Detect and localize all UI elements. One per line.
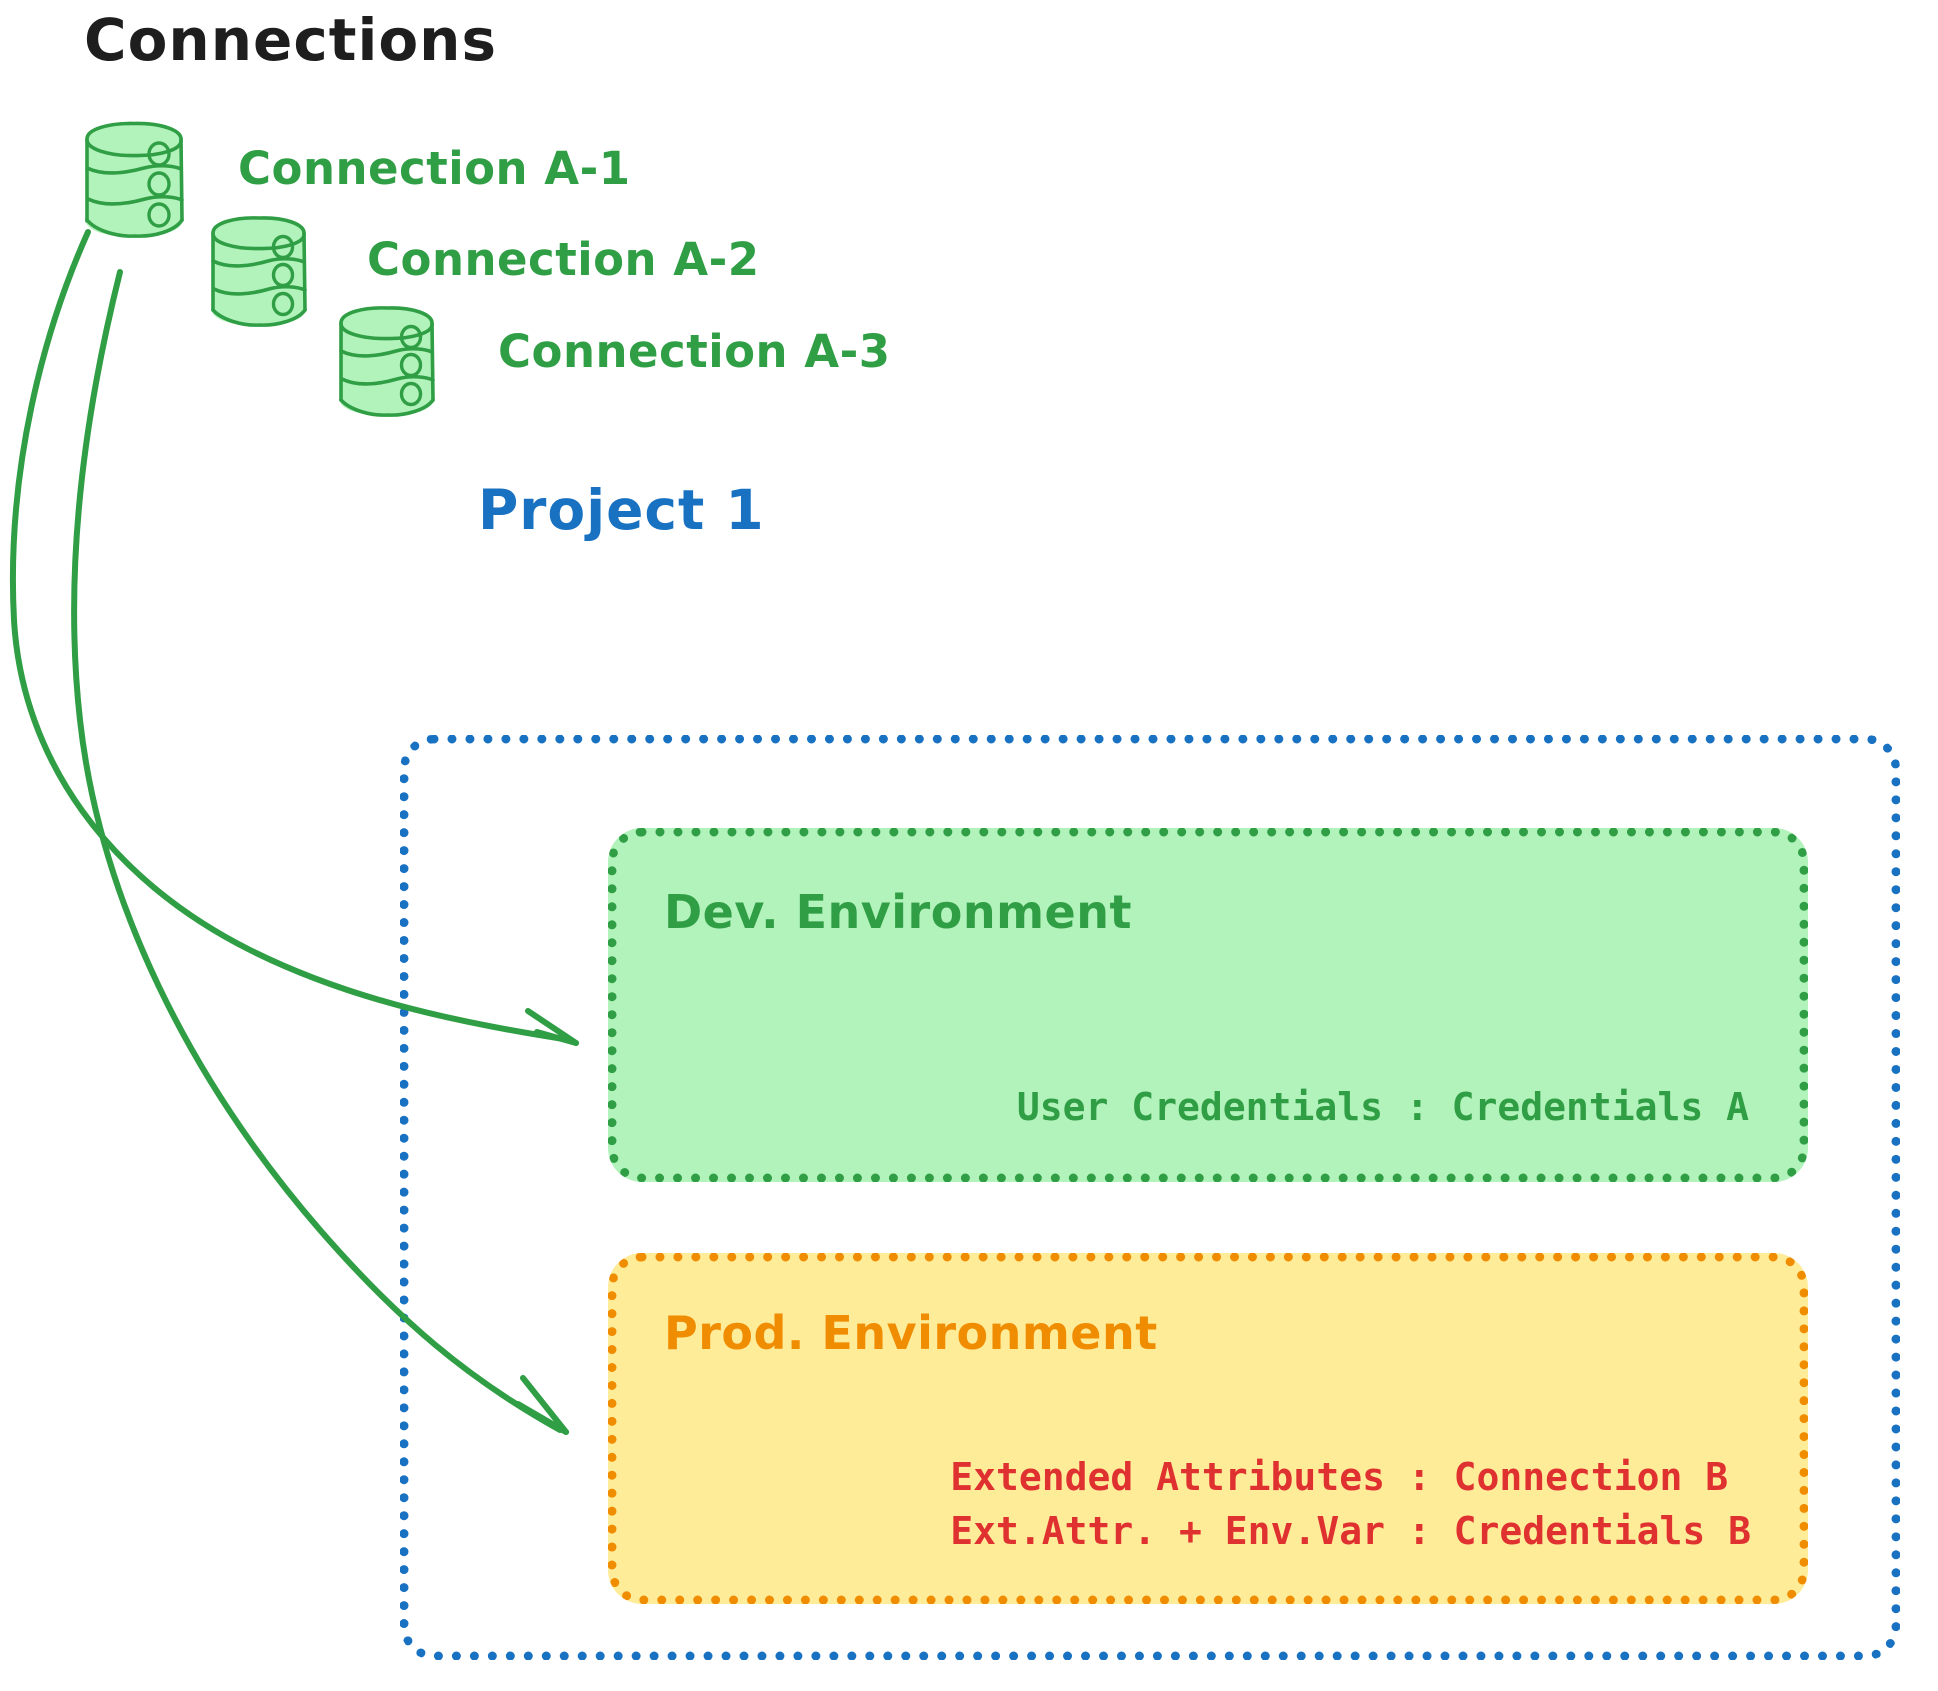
dev-environment-title: Dev. Environment — [664, 885, 1132, 939]
prod-environment-box: Prod. Environment Extended Attributes : … — [608, 1253, 1808, 1604]
diagram-canvas: Connections — [0, 0, 1938, 1691]
database-icon — [333, 303, 441, 425]
project-title: Project 1 — [478, 478, 765, 542]
connection-label-a3: Connection A-3 — [498, 325, 891, 378]
connection-label-a2: Connection A-2 — [367, 233, 760, 286]
prod-environment-attributes: Extended Attributes : Connection B Ext.A… — [950, 1451, 1751, 1559]
connection-label-a1: Connection A-1 — [238, 142, 631, 195]
database-icon — [205, 213, 313, 335]
database-icon — [78, 118, 190, 247]
page-title: Connections — [84, 6, 497, 74]
dev-environment-attributes: User Credentials : Credentials A — [1017, 1081, 1749, 1135]
prod-environment-title: Prod. Environment — [664, 1306, 1158, 1360]
dev-environment-box: Dev. Environment User Credentials : Cred… — [608, 828, 1808, 1182]
